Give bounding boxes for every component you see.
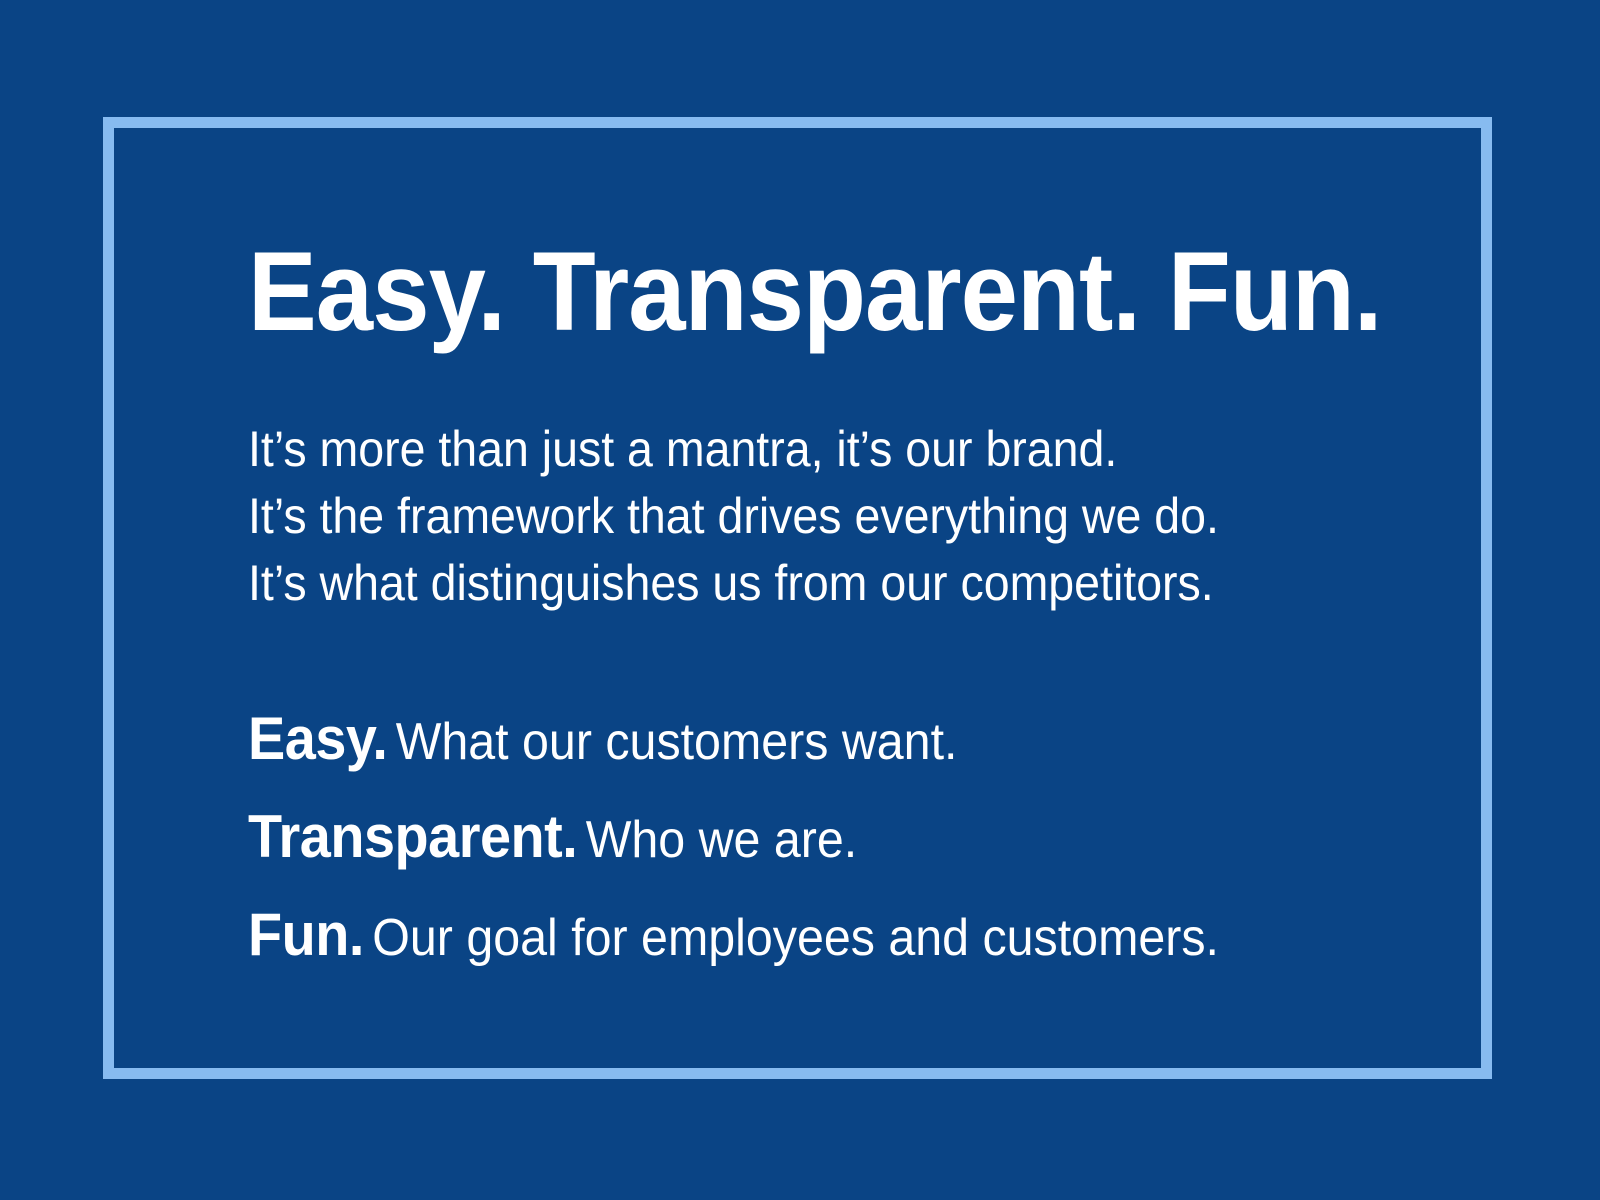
tenet-item-transparent: Transparent.Who we are. <box>248 796 1383 894</box>
tenet-list: Easy.What our customers want. Transparen… <box>248 698 1468 992</box>
tenet-item-easy: Easy.What our customers want. <box>248 698 1383 796</box>
tenet-term-easy: Easy. <box>248 705 387 772</box>
decorative-border-frame: Easy. Transparent. Fun. It’s more than j… <box>103 117 1492 1079</box>
intro-line-2: It’s the framework that drives everythin… <box>248 483 1364 550</box>
tenet-description-fun: Our goal for employees and customers. <box>364 909 1219 967</box>
slide-content: Easy. Transparent. Fun. It’s more than j… <box>248 128 1478 1068</box>
tenet-term-fun: Fun. <box>248 901 364 968</box>
intro-line-3: It’s what distinguishes us from our comp… <box>248 550 1364 617</box>
intro-paragraph: It’s more than just a mantra, it’s our b… <box>248 416 1448 617</box>
intro-line-1: It’s more than just a mantra, it’s our b… <box>248 416 1364 483</box>
slide-canvas: Easy. Transparent. Fun. It’s more than j… <box>0 0 1600 1200</box>
page-title: Easy. Transparent. Fun. <box>248 236 1382 348</box>
tenet-term-transparent: Transparent. <box>248 803 577 870</box>
tenet-description-easy: What our customers want. <box>387 713 957 771</box>
tenet-description-transparent: Who we are. <box>577 811 857 869</box>
tenet-item-fun: Fun.Our goal for employees and customers… <box>248 894 1383 992</box>
